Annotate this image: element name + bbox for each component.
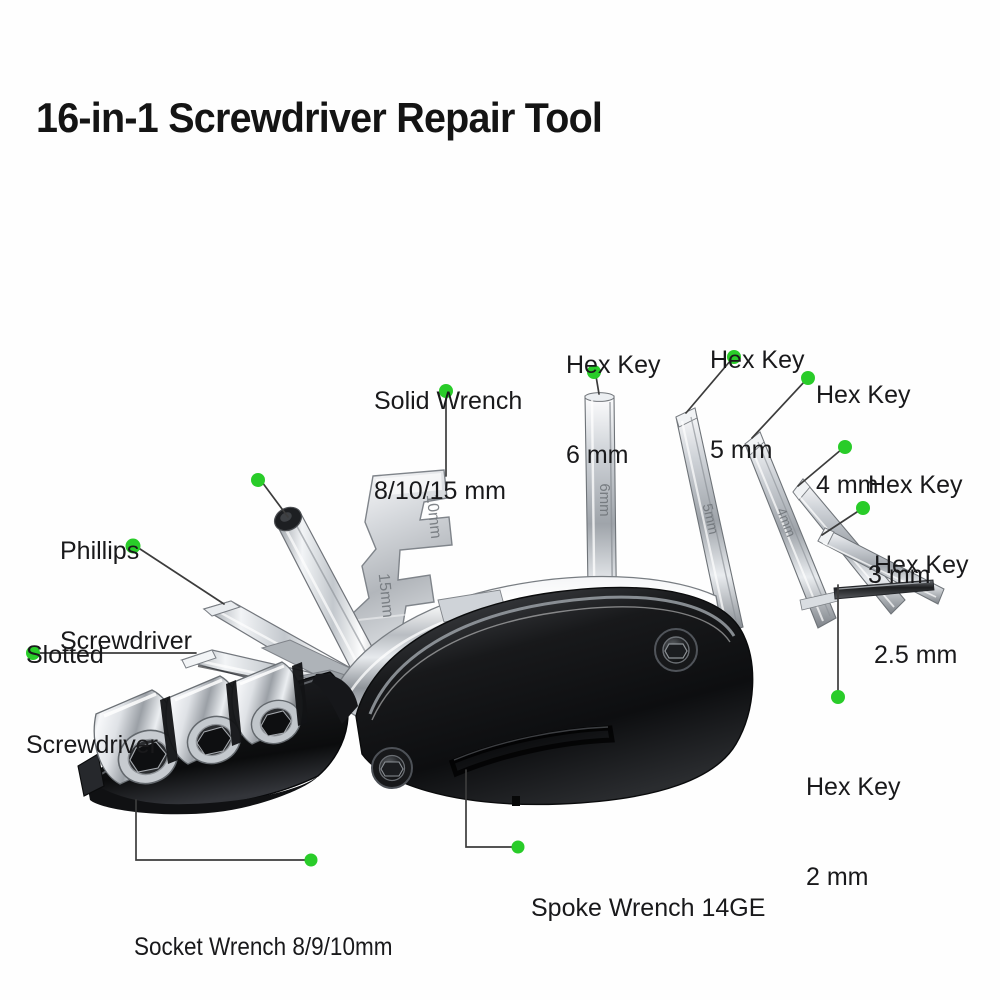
label-hex-key-2mm: Hex Key 2 mm	[806, 712, 900, 952]
label-phillips-screwdriver: Phillips Screwdriver	[60, 476, 192, 716]
label-phillips-screwdriver-line2: Screwdriver	[60, 626, 192, 656]
label-hex-key-5mm-line1: Hex Key	[710, 345, 804, 375]
leader-spoke-wrench	[466, 770, 514, 847]
dot-phillips-screwdriver	[251, 473, 265, 487]
leader-socket-wrench	[136, 800, 307, 860]
label-phillips-screwdriver-line1: Phillips	[60, 536, 192, 566]
label-hex-key-6mm-line2: 6 mm	[566, 440, 660, 470]
label-hex-key-6mm-line1: Hex Key	[566, 350, 660, 380]
diagram-stage: 6mm 5mm 4mm	[0, 0, 1000, 1000]
label-hex-key-2_5mm: Hex Key 2.5 mm	[874, 490, 968, 730]
dot-spoke-wrench	[512, 841, 525, 854]
dot-socket-wrench	[305, 854, 318, 867]
label-hex-key-2mm-line1: Hex Key	[806, 772, 900, 802]
label-hex-key-2_5mm-line2: 2.5 mm	[874, 640, 968, 670]
label-slotted-screwdriver-line2: Screwdriver	[26, 730, 158, 760]
label-hex-key-4mm-line1: Hex Key	[816, 380, 910, 410]
label-spoke-wrench: Spoke Wrench 14GE	[531, 833, 765, 983]
label-socket-wrench-text: Socket Wrench 8/9/10mm	[134, 932, 392, 962]
label-solid-wrench-line2: 8/10/15 mm	[374, 476, 522, 506]
label-hex-key-6mm: Hex Key 6 mm	[566, 290, 660, 530]
label-hex-key-5mm: Hex Key 5 mm	[710, 285, 804, 525]
label-hex-key-5mm-line2: 5 mm	[710, 435, 804, 465]
product-diagram-page: 16-in-1 Screwdriver Repair Tool	[0, 0, 1000, 1000]
label-hex-key-2mm-line2: 2 mm	[806, 862, 900, 892]
label-socket-wrench: Socket Wrench 8/9/10mm	[134, 872, 392, 1000]
label-spoke-wrench-text: Spoke Wrench 14GE	[531, 893, 765, 923]
label-hex-key-2_5mm-line1: Hex Key	[874, 550, 968, 580]
label-solid-wrench: Solid Wrench 8/10/15 mm	[374, 326, 522, 566]
leader-phillips-screwdriver	[262, 482, 288, 517]
label-solid-wrench-line1: Solid Wrench	[374, 386, 522, 416]
dot-hex-2mm	[831, 690, 845, 704]
